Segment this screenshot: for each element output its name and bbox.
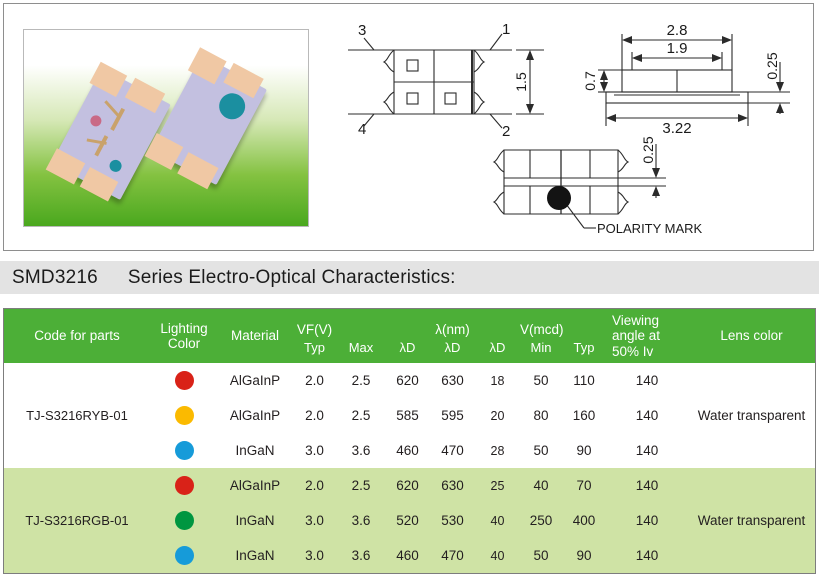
cell-material: AlGaInP — [218, 363, 292, 398]
led-package-photo-left — [51, 68, 171, 200]
cell-lambda-3: 40 — [475, 503, 520, 538]
header-lambda-group: λ(nm) — [430, 316, 475, 337]
drawing-panel: 3 4 1 2 1.5 — [3, 3, 814, 251]
cell-lambda-3: 25 — [475, 468, 520, 503]
cell-lambda-2: 530 — [430, 503, 475, 538]
dim-side-base-width: 3.22 — [662, 120, 691, 137]
cell-viewing-angle: 140 — [606, 538, 688, 573]
dim-top-view-height: 1.5 — [513, 72, 529, 92]
led-color-swatch-blue — [175, 441, 194, 460]
cell-lighting-color — [150, 398, 218, 433]
cell-v-min: 50 — [520, 538, 562, 573]
cell-lambda-1: 460 — [385, 433, 430, 468]
cell-lambda-3: 40 — [475, 538, 520, 573]
led-color-swatch-blue — [175, 546, 194, 565]
table-body: TJ-S3216RYB-01AlGaInP2.02.56206301850110… — [4, 363, 815, 573]
header-lighting-color: Lighting Color — [150, 309, 218, 363]
cell-lambda-3: 28 — [475, 433, 520, 468]
cell-lighting-color — [150, 363, 218, 398]
cell-vf-typ: 2.0 — [292, 468, 337, 503]
cell-vf-typ: 2.0 — [292, 398, 337, 433]
pin-label-4: 4 — [358, 121, 366, 138]
cell-vf-max: 2.5 — [337, 398, 385, 433]
cell-v-typ: 400 — [562, 503, 606, 538]
section-title-bar: SMD3216 Series Electro-Optical Character… — [0, 261, 819, 294]
cell-viewing-angle: 140 — [606, 433, 688, 468]
led-color-swatch-yellow — [175, 406, 194, 425]
pin-label-1: 1 — [502, 22, 510, 38]
header-viewing-angle: Viewing angle at 50% Iv — [606, 309, 688, 363]
cell-lambda-3: 18 — [475, 363, 520, 398]
cell-lambda-2: 470 — [430, 433, 475, 468]
header-lens-color: Lens color — [688, 309, 815, 363]
cell-material: AlGaInP — [218, 468, 292, 503]
dim-side-inner-width: 1.9 — [667, 40, 688, 57]
cell-viewing-angle: 140 — [606, 398, 688, 433]
dim-bottom-offset: 0.25 — [640, 136, 656, 163]
electro-optical-table: Code for parts Lighting Color Material — [3, 308, 816, 574]
cell-lambda-3: 20 — [475, 398, 520, 433]
header-v-group: V(mcd) — [520, 316, 562, 337]
table-row: TJ-S3216RGB-01AlGaInP2.02.56206302540701… — [4, 468, 815, 503]
header-vf-typ: VF(V) Typ — [292, 309, 337, 363]
section-heading: Series Electro-Optical Characteristics: — [98, 267, 456, 289]
cell-viewing-angle: 140 — [606, 468, 688, 503]
cell-lens-color: Water transparent — [688, 363, 815, 468]
cell-v-min: 50 — [520, 363, 562, 398]
dim-side-body-height: 0.7 — [584, 71, 598, 91]
cell-lens-color: Water transparent — [688, 468, 815, 573]
cell-v-min: 250 — [520, 503, 562, 538]
header-v-min: V(mcd) Min — [520, 309, 562, 363]
datasheet-page: 3 4 1 2 1.5 — [0, 0, 819, 538]
header-vf-group: VF(V) — [292, 316, 337, 337]
cell-vf-typ: 2.0 — [292, 363, 337, 398]
cell-material: InGaN — [218, 503, 292, 538]
cell-lambda-2: 630 — [430, 468, 475, 503]
cell-v-typ: 70 — [562, 468, 606, 503]
dim-side-outer-width: 2.8 — [667, 22, 688, 39]
cell-v-typ: 90 — [562, 433, 606, 468]
cell-material: InGaN — [218, 538, 292, 573]
table-header: Code for parts Lighting Color Material — [4, 309, 815, 363]
cell-v-min: 50 — [520, 433, 562, 468]
cell-vf-typ: 3.0 — [292, 503, 337, 538]
cell-vf-typ: 3.0 — [292, 433, 337, 468]
cell-vf-typ: 3.0 — [292, 538, 337, 573]
cell-vf-max: 3.6 — [337, 503, 385, 538]
led-color-swatch-red — [175, 476, 194, 495]
header-lambda-3: λD — [475, 309, 520, 363]
cell-lambda-2: 470 — [430, 538, 475, 573]
cell-lambda-1: 585 — [385, 398, 430, 433]
cell-lighting-color — [150, 538, 218, 573]
pin-label-3: 3 — [358, 22, 366, 39]
cell-code-for-parts: TJ-S3216RGB-01 — [4, 468, 150, 573]
header-lambda-1: λD — [385, 309, 430, 363]
header-vf-max: Max — [337, 309, 385, 363]
polarity-mark-label: POLARITY MARK — [597, 221, 703, 236]
dim-side-base-thickness: 0.25 — [764, 52, 780, 79]
cell-v-typ: 90 — [562, 538, 606, 573]
cell-lambda-1: 620 — [385, 468, 430, 503]
cell-vf-max: 2.5 — [337, 363, 385, 398]
cell-vf-max: 3.6 — [337, 538, 385, 573]
cell-material: AlGaInP — [218, 398, 292, 433]
header-code-for-parts: Code for parts — [4, 309, 150, 363]
cell-lighting-color — [150, 468, 218, 503]
cell-v-typ: 110 — [562, 363, 606, 398]
polarity-mark-dot — [547, 186, 571, 210]
product-photo — [23, 29, 309, 227]
cell-v-min: 80 — [520, 398, 562, 433]
part-family-label: SMD3216 — [0, 267, 98, 289]
header-lambda-2: λ(nm) λD — [430, 309, 475, 363]
cell-v-min: 40 — [520, 468, 562, 503]
cell-lambda-1: 460 — [385, 538, 430, 573]
cell-code-for-parts: TJ-S3216RYB-01 — [4, 363, 150, 468]
cell-vf-max: 2.5 — [337, 468, 385, 503]
cell-lambda-2: 630 — [430, 363, 475, 398]
cell-lambda-1: 520 — [385, 503, 430, 538]
led-color-swatch-red — [175, 371, 194, 390]
cell-lighting-color — [150, 433, 218, 468]
table-row: TJ-S3216RYB-01AlGaInP2.02.56206301850110… — [4, 363, 815, 398]
cell-material: InGaN — [218, 433, 292, 468]
cell-lambda-2: 595 — [430, 398, 475, 433]
header-material: Material — [218, 309, 292, 363]
cell-viewing-angle: 140 — [606, 503, 688, 538]
top-view-drawing: 3 4 1 2 1.5 — [344, 22, 554, 142]
led-color-swatch-green — [175, 511, 194, 530]
side-view-drawing: 2.8 1.9 0.7 3.22 0.25 — [584, 22, 814, 137]
led-package-photo-right — [151, 55, 267, 185]
cell-lambda-1: 620 — [385, 363, 430, 398]
cell-v-typ: 160 — [562, 398, 606, 433]
header-v-typ: Typ — [562, 309, 606, 363]
bottom-view-drawing: 0.25 POLARITY MARK — [466, 136, 731, 248]
cell-lighting-color — [150, 503, 218, 538]
cell-viewing-angle: 140 — [606, 363, 688, 398]
cell-vf-max: 3.6 — [337, 433, 385, 468]
